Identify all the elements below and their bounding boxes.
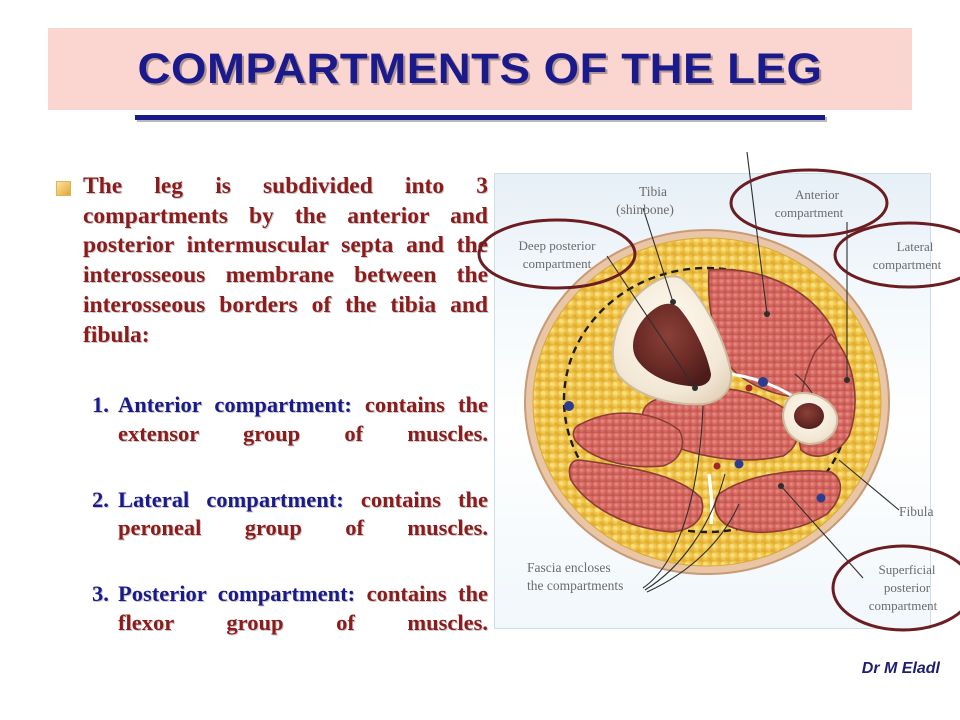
vessel-great-saphenous (564, 401, 574, 411)
anterior-leader-dot (764, 311, 770, 317)
content-text-column: The leg is subdivided into 3 compartment… (56, 172, 488, 675)
deep-posterior-label-line2: compartment (523, 256, 592, 271)
superficial-posterior-label-line3: compartment (869, 598, 938, 613)
callout-anterior: Anterior compartment (731, 170, 887, 236)
lateral-label-line1: Lateral (897, 239, 934, 254)
compartments-list: 1. Anterior compartment: contains the ex… (56, 391, 488, 666)
list-item-number: 3. (92, 580, 118, 609)
tibia-label-line2: (shinbone) (616, 202, 674, 217)
title-banner: COMPARTMENTS OF THE LEG (48, 28, 912, 110)
author-signature: Dr M Eladl (790, 660, 940, 678)
square-bullet-icon (56, 181, 71, 196)
superficial-posterior-leader-dot (778, 483, 784, 489)
list-item: 3. Posterior compartment: contains the f… (92, 580, 488, 666)
callout-lateral: Lateral compartment (835, 223, 960, 287)
fascia-label-line1: Fascia encloses (527, 560, 611, 575)
list-item: 2. Lateral compartment: contains the per… (92, 486, 488, 572)
vessel-posterior-tibial (758, 377, 768, 387)
list-item-term: Posterior compartment: (118, 581, 355, 606)
list-item: 1. Anterior compartment: contains the ex… (92, 391, 488, 477)
list-item-term: Anterior compartment: (118, 392, 352, 417)
list-item-number: 1. (92, 391, 118, 420)
deep-posterior-label-line1: Deep posterior (519, 238, 597, 253)
callout-deep-posterior: Deep posterior compartment (479, 220, 635, 288)
anterior-label-line1: Anterior (795, 187, 840, 202)
limb-cross-section (525, 230, 889, 574)
superficial-posterior-label-line1: Superficial (878, 562, 935, 577)
vessel-peroneal (735, 460, 744, 469)
tibia-leader-dot (670, 299, 676, 305)
fascia-label-line2: the compartments (527, 578, 623, 593)
list-item-term: Lateral compartment: (118, 487, 344, 512)
leg-cross-section-figure: Tibia (shinbone) Fibula Fascia encloses … (494, 173, 931, 629)
superficial-posterior-label-line2: posterior (884, 580, 931, 595)
fibula-marrow (794, 403, 824, 429)
list-item-number: 2. (92, 486, 118, 515)
callout-superficial-posterior: Superficial posterior compartment (833, 546, 960, 630)
intro-bullet-row: The leg is subdivided into 3 compartment… (56, 172, 488, 380)
anterior-label-line2: compartment (775, 205, 844, 220)
vessel-superficial-peroneal (817, 494, 826, 503)
lateral-callout-ellipse (835, 223, 960, 287)
list-item-body: Posterior compartment: contains the flex… (118, 580, 488, 666)
title-underline (135, 115, 825, 120)
page-title: COMPARTMENTS OF THE LEG (22, 28, 938, 110)
list-item-body: Anterior compartment: contains the exten… (118, 391, 488, 477)
fibula-label: Fibula (899, 504, 934, 519)
list-item-body: Lateral compartment: contains the perone… (118, 486, 488, 572)
lateral-label-line2: compartment (873, 257, 942, 272)
vessel-small-saphenous (714, 463, 721, 470)
deep-posterior-leader-dot (692, 385, 698, 391)
tibia-label-line1: Tibia (639, 184, 667, 199)
anatomy-illustration: Tibia (shinbone) Fibula Fascia encloses … (495, 174, 932, 630)
lateral-leader-dot (844, 377, 850, 383)
vessel-anterior-tibial (746, 385, 753, 392)
anterior-callout-ellipse (731, 170, 887, 236)
intro-paragraph: The leg is subdivided into 3 compartment… (83, 172, 488, 380)
deep-posterior-callout-ellipse (479, 220, 635, 288)
